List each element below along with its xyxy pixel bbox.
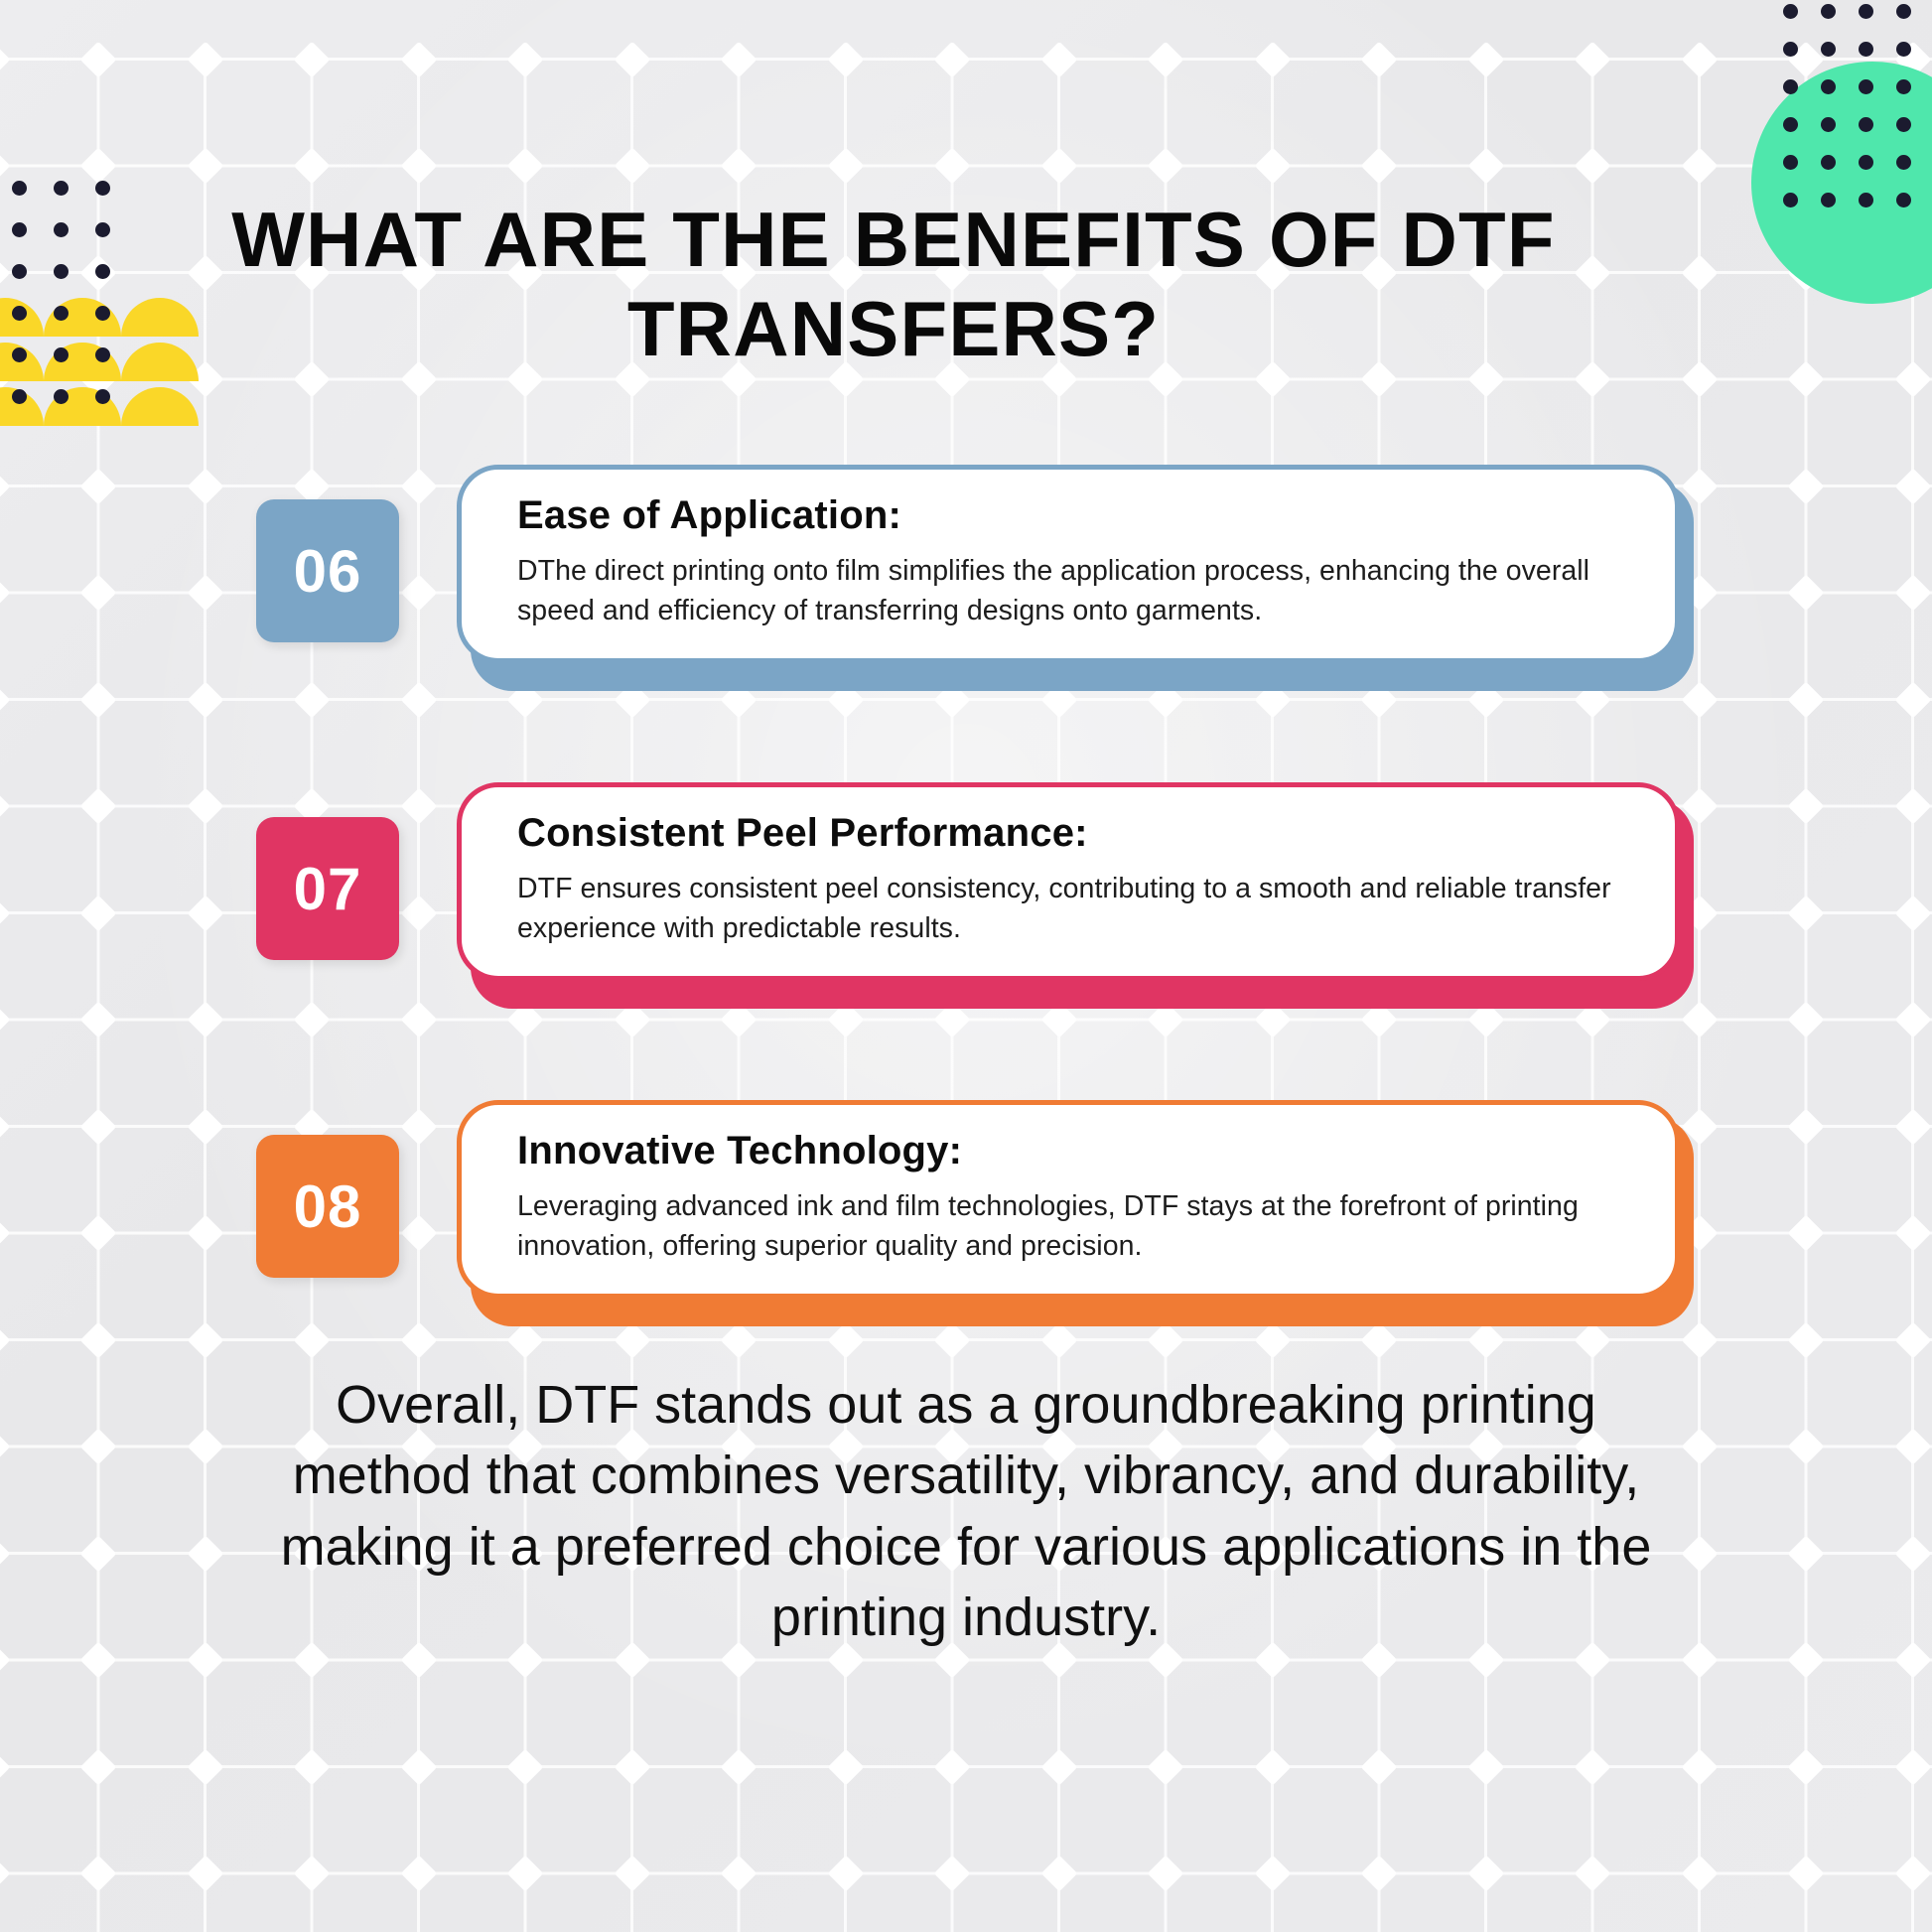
grid-diamond-icon	[294, 1856, 331, 1892]
grid-diamond-icon	[507, 1856, 544, 1892]
grid-diamond-icon	[1467, 1856, 1504, 1892]
grid-diamond-icon	[187, 1748, 223, 1785]
card-number-label: 08	[294, 1173, 362, 1241]
grid-diamond-icon	[0, 1642, 10, 1679]
grid-diamond-icon	[1681, 1856, 1718, 1892]
card-title: Innovative Technology:	[517, 1127, 1629, 1174]
yellow-semicircle-shape	[121, 387, 199, 426]
grid-diamond-icon	[294, 1748, 331, 1785]
grid-diamond-icon	[1894, 1429, 1931, 1465]
grid-diamond-icon	[80, 1535, 117, 1572]
grid-diamond-icon	[1681, 41, 1718, 77]
benefit-card-06[interactable]: Ease of Application: DThe direct printin…	[457, 465, 1680, 663]
dot-grid-left-icon	[12, 181, 129, 449]
grid-diamond-icon	[614, 1748, 650, 1785]
decorative-dot-icon	[12, 181, 27, 196]
grid-diamond-icon	[0, 1535, 10, 1572]
grid-diamond-icon	[1575, 1748, 1611, 1785]
grid-diamond-icon	[1254, 1748, 1291, 1785]
decorative-dot-icon	[1896, 4, 1911, 19]
decorative-dot-icon	[1859, 42, 1873, 57]
decorative-dot-icon	[1896, 193, 1911, 207]
grid-diamond-icon	[187, 1429, 223, 1465]
grid-diamond-icon	[721, 41, 758, 77]
grid-diamond-icon	[614, 41, 650, 77]
grid-diamond-icon	[1681, 148, 1718, 185]
grid-diamond-icon	[1575, 41, 1611, 77]
card-body: DThe direct printing onto film simplifie…	[517, 551, 1629, 631]
decorative-dot-icon	[12, 347, 27, 362]
grid-diamond-icon	[1681, 254, 1718, 291]
decorative-dot-icon	[95, 222, 110, 237]
decorative-dot-icon	[54, 347, 69, 362]
decorative-dot-icon	[54, 264, 69, 279]
dot-grid-top-right-icon	[1783, 4, 1912, 203]
grid-diamond-icon	[400, 1748, 437, 1785]
card-number-badge-08: 08	[256, 1135, 399, 1278]
decorative-dot-icon	[1783, 42, 1798, 57]
decorative-dot-icon	[1821, 42, 1836, 57]
benefit-card-row: Consistent Peel Performance: DTF ensures…	[0, 772, 1932, 1029]
grid-diamond-icon	[0, 1748, 10, 1785]
grid-diamond-icon	[1467, 41, 1504, 77]
grid-diamond-icon	[1361, 148, 1398, 185]
grid-diamond-icon	[80, 41, 117, 77]
infographic-canvas: WHAT ARE THE BENEFITS OF DTF TRANSFERS? …	[0, 0, 1932, 1932]
grid-diamond-icon	[1467, 1748, 1504, 1785]
grid-diamond-icon	[80, 148, 117, 185]
decorative-dot-icon	[12, 264, 27, 279]
decorative-dot-icon	[1821, 4, 1836, 19]
grid-diamond-icon	[1894, 361, 1931, 398]
decorative-dot-icon	[1783, 155, 1798, 170]
card-number-label: 07	[294, 855, 362, 923]
grid-diamond-icon	[1788, 1642, 1825, 1679]
grid-diamond-icon	[507, 1748, 544, 1785]
yellow-semicircle-shape	[121, 298, 199, 337]
grid-diamond-icon	[1040, 41, 1077, 77]
grid-diamond-icon	[721, 1748, 758, 1785]
grid-diamond-icon	[827, 41, 864, 77]
grid-diamond-icon	[1681, 361, 1718, 398]
grid-diamond-icon	[827, 1748, 864, 1785]
decorative-dot-icon	[1859, 4, 1873, 19]
grid-diamond-icon	[1575, 1856, 1611, 1892]
grid-diamond-icon	[1148, 1856, 1184, 1892]
grid-diamond-icon	[400, 41, 437, 77]
grid-diamond-icon	[934, 1748, 971, 1785]
benefit-card-08[interactable]: Innovative Technology: Leveraging advanc…	[457, 1100, 1680, 1299]
card-number-label: 06	[294, 537, 362, 606]
decorative-dot-icon	[1821, 79, 1836, 94]
grid-diamond-icon	[187, 148, 223, 185]
decorative-dot-icon	[12, 222, 27, 237]
grid-diamond-icon	[1467, 148, 1504, 185]
grid-diamond-icon	[294, 41, 331, 77]
grid-diamond-icon	[1788, 1429, 1825, 1465]
grid-diamond-icon	[1254, 148, 1291, 185]
decorative-dot-icon	[1783, 79, 1798, 94]
grid-diamond-icon	[0, 41, 10, 77]
decorative-dot-icon	[95, 389, 110, 404]
grid-diamond-icon	[934, 1856, 971, 1892]
card-number-badge-06: 06	[256, 499, 399, 642]
grid-diamond-icon	[614, 148, 650, 185]
grid-diamond-icon	[1361, 41, 1398, 77]
grid-diamond-icon	[80, 1748, 117, 1785]
grid-diamond-icon	[1788, 1535, 1825, 1572]
grid-diamond-icon	[1148, 148, 1184, 185]
decorative-dot-icon	[95, 264, 110, 279]
grid-diamond-icon	[614, 1856, 650, 1892]
card-body: Leveraging advanced ink and film technol…	[517, 1186, 1629, 1267]
decorative-dot-icon	[1783, 193, 1798, 207]
grid-diamond-icon	[1148, 41, 1184, 77]
grid-diamond-icon	[507, 41, 544, 77]
grid-diamond-icon	[1894, 1748, 1931, 1785]
grid-diamond-icon	[721, 148, 758, 185]
summary-paragraph: Overall, DTF stands out as a groundbreak…	[241, 1370, 1691, 1653]
grid-diamond-icon	[0, 1429, 10, 1465]
decorative-dot-icon	[54, 306, 69, 321]
decorative-dot-icon	[1896, 117, 1911, 132]
decorative-dot-icon	[1859, 79, 1873, 94]
grid-diamond-icon	[400, 1856, 437, 1892]
decorative-dot-icon	[1783, 117, 1798, 132]
decorative-dot-icon	[1821, 193, 1836, 207]
grid-diamond-icon	[1894, 1642, 1931, 1679]
decorative-dot-icon	[1896, 79, 1911, 94]
benefit-card-list: Ease of Application: DThe direct printin…	[0, 455, 1932, 1408]
grid-diamond-icon	[1894, 1856, 1931, 1892]
grid-diamond-icon	[80, 1856, 117, 1892]
decorative-dot-icon	[54, 181, 69, 196]
grid-diamond-icon	[1148, 1748, 1184, 1785]
grid-diamond-icon	[1894, 1535, 1931, 1572]
decorative-dot-icon	[1859, 193, 1873, 207]
grid-diamond-icon	[1254, 1856, 1291, 1892]
grid-diamond-icon	[1040, 148, 1077, 185]
grid-diamond-icon	[187, 41, 223, 77]
card-number-badge-07: 07	[256, 817, 399, 960]
grid-diamond-icon	[0, 1856, 10, 1892]
grid-diamond-icon	[294, 148, 331, 185]
grid-diamond-icon	[1788, 361, 1825, 398]
grid-diamond-icon	[1575, 148, 1611, 185]
decorative-dot-icon	[12, 389, 27, 404]
grid-diamond-icon	[1788, 1748, 1825, 1785]
grid-diamond-icon	[1254, 41, 1291, 77]
grid-diamond-icon	[1361, 1748, 1398, 1785]
benefit-card-07[interactable]: Consistent Peel Performance: DTF ensures…	[457, 782, 1680, 981]
decorative-dot-icon	[54, 222, 69, 237]
card-title: Consistent Peel Performance:	[517, 809, 1629, 857]
grid-diamond-icon	[400, 148, 437, 185]
decorative-dot-icon	[1859, 117, 1873, 132]
grid-diamond-icon	[187, 1535, 223, 1572]
card-body: DTF ensures consistent peel consistency,…	[517, 869, 1629, 949]
decorative-dot-icon	[1896, 42, 1911, 57]
grid-diamond-icon	[934, 41, 971, 77]
grid-diamond-icon	[827, 148, 864, 185]
grid-diamond-icon	[934, 148, 971, 185]
decorative-dot-icon	[12, 306, 27, 321]
grid-diamond-icon	[1681, 1748, 1718, 1785]
grid-diamond-icon	[80, 1642, 117, 1679]
decorative-dot-icon	[54, 389, 69, 404]
benefit-card-row: Innovative Technology: Leveraging advanc…	[0, 1090, 1932, 1346]
page-title: WHAT ARE THE BENEFITS OF DTF TRANSFERS?	[189, 195, 1598, 374]
decorative-dot-icon	[1821, 117, 1836, 132]
card-title: Ease of Application:	[517, 491, 1629, 539]
yellow-semicircle-shape	[121, 343, 199, 381]
decorative-dot-icon	[1896, 155, 1911, 170]
decorative-dot-icon	[1859, 155, 1873, 170]
grid-diamond-icon	[507, 148, 544, 185]
grid-diamond-icon	[0, 148, 10, 185]
decorative-dot-icon	[1783, 4, 1798, 19]
decorative-dot-icon	[95, 181, 110, 196]
benefit-card-row: Ease of Application: DThe direct printin…	[0, 455, 1932, 711]
grid-diamond-icon	[187, 1856, 223, 1892]
decorative-dot-icon	[1821, 155, 1836, 170]
grid-diamond-icon	[1361, 1856, 1398, 1892]
decorative-dot-icon	[95, 347, 110, 362]
grid-diamond-icon	[80, 1429, 117, 1465]
grid-diamond-icon	[721, 1856, 758, 1892]
grid-diamond-icon	[0, 254, 10, 291]
grid-diamond-icon	[1040, 1748, 1077, 1785]
decorative-dot-icon	[95, 306, 110, 321]
grid-diamond-icon	[1788, 1856, 1825, 1892]
grid-diamond-icon	[187, 1642, 223, 1679]
grid-diamond-icon	[827, 1856, 864, 1892]
grid-diamond-icon	[1040, 1856, 1077, 1892]
